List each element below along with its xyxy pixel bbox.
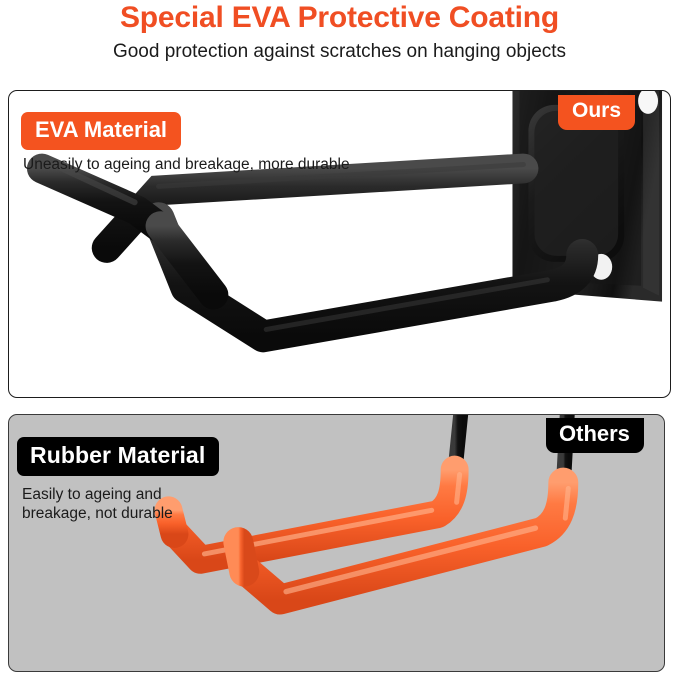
- screw-hole-icon: [590, 254, 612, 280]
- steel-wire-arm: [455, 415, 463, 475]
- page-subtitle: Good protection against scratches on han…: [0, 35, 679, 64]
- material-badge-rubber: Rubber Material: [17, 437, 219, 476]
- page-title: Special EVA Protective Coating: [0, 0, 679, 35]
- screw-hole-icon: [638, 91, 658, 114]
- comparison-panel-ours: EVA Material Uneasily to ageing and brea…: [8, 90, 671, 398]
- corner-tab-ours: Ours: [558, 95, 635, 130]
- material-badge-eva: EVA Material: [21, 112, 181, 150]
- header-banner: Special EVA Protective Coating Good prot…: [0, 0, 679, 86]
- panel-description-ours: Uneasily to ageing and breakage, more du…: [23, 155, 350, 174]
- panel-description-others: Easily to ageing and breakage, not durab…: [22, 485, 173, 523]
- corner-tab-others: Others: [546, 418, 644, 453]
